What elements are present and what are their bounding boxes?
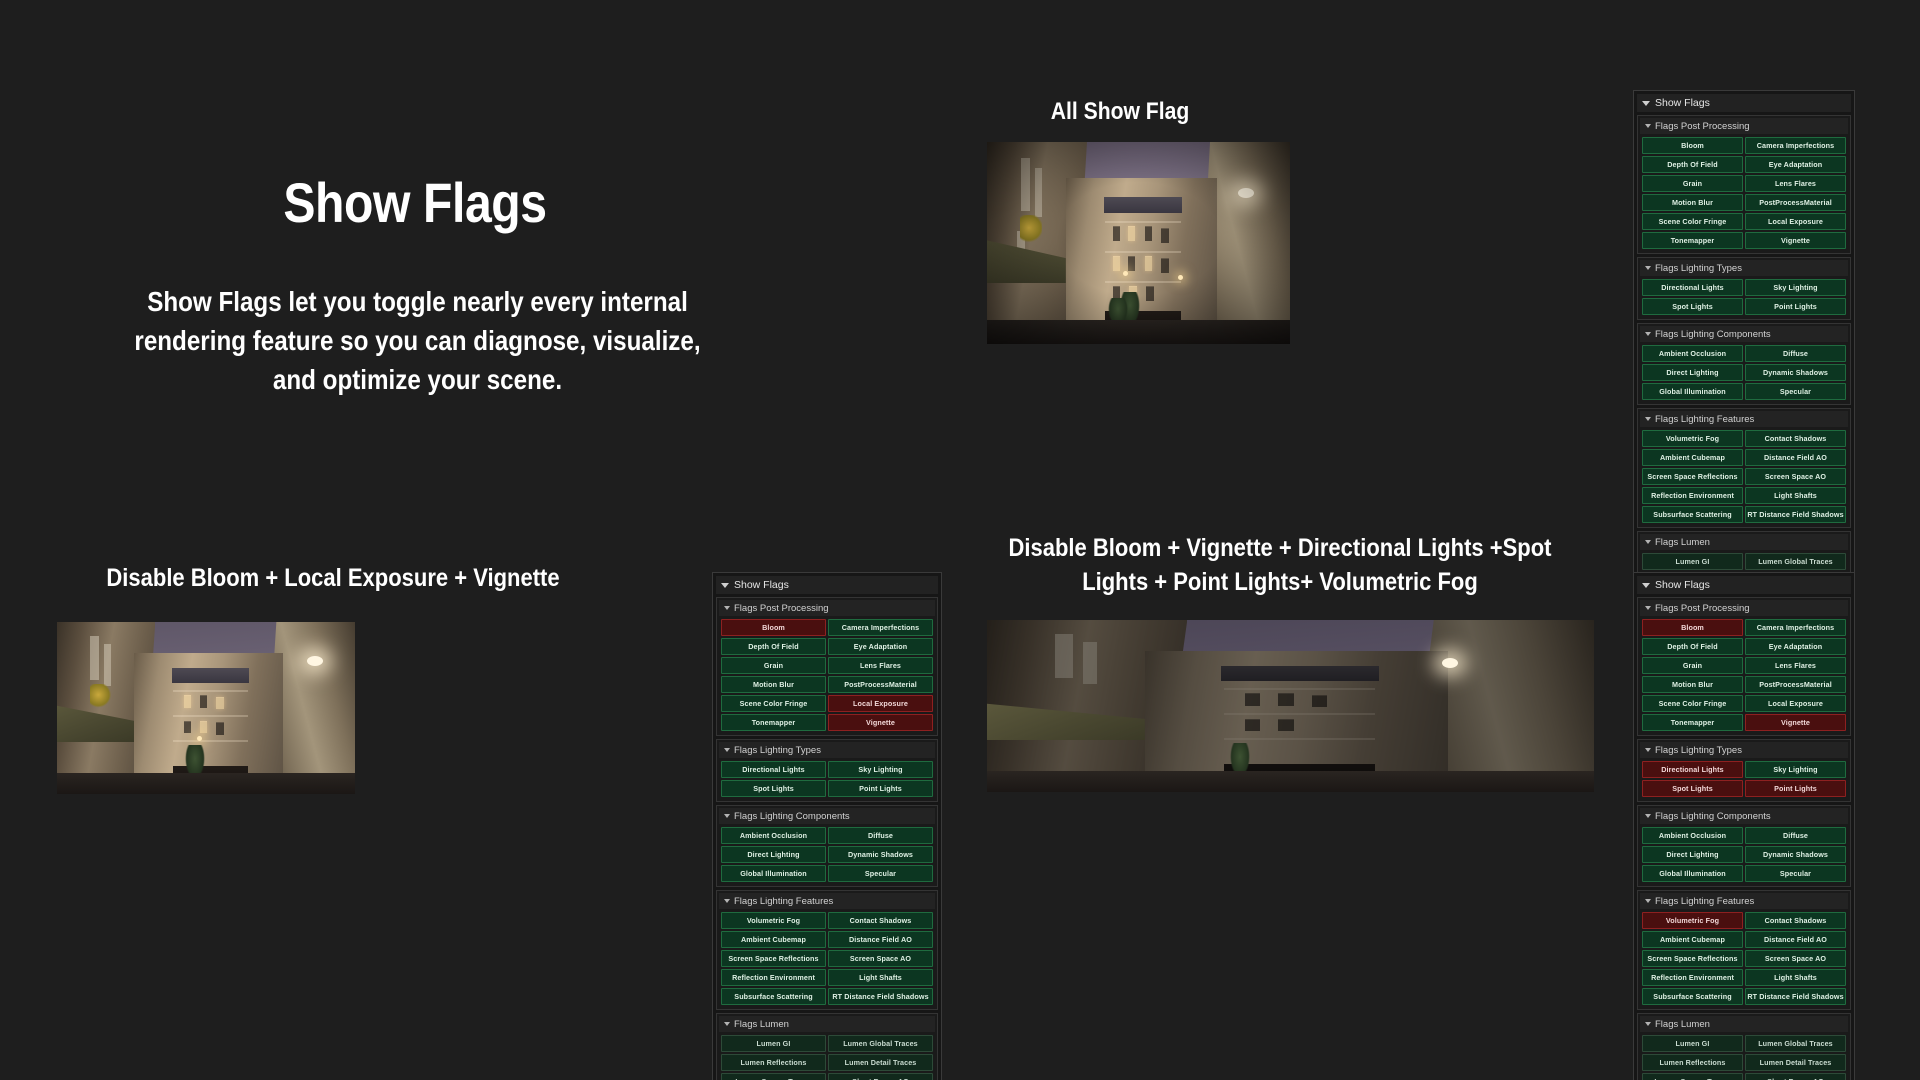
- flag-toggle-tonemapper[interactable]: Tonemapper: [1642, 714, 1743, 731]
- group-post-processing[interactable]: Flags Post Processing BloomCamera Imperf…: [1637, 115, 1851, 254]
- flag-toggle-direct-lighting[interactable]: Direct Lighting: [721, 846, 826, 863]
- flag-toggle-screen-space-reflections[interactable]: Screen Space Reflections: [721, 950, 826, 967]
- balcony-flowers: [90, 684, 111, 712]
- render-viewport-all-show-flag: [987, 142, 1290, 344]
- flag-toggle-lumen-detail-traces[interactable]: Lumen Detail Traces: [1745, 1054, 1846, 1071]
- group-post-processing[interactable]: Flags Post Processing BloomCamera Imperf…: [716, 597, 938, 736]
- chevron-down-icon[interactable]: [721, 583, 729, 588]
- flag-toggle-sky-lighting[interactable]: Sky Lighting: [1745, 761, 1846, 778]
- group-label: Flags Lighting Types: [1655, 745, 1742, 756]
- render-viewport-no-lights-fog: [987, 620, 1594, 792]
- flag-toggle-volumetric-fog[interactable]: Volumetric Fog: [721, 912, 826, 929]
- flag-toggle-lumen-gi[interactable]: Lumen GI: [1642, 1035, 1743, 1052]
- flag-toggle-point-lights[interactable]: Point Lights: [1745, 780, 1846, 797]
- flag-toggle-eye-adaptation[interactable]: Eye Adaptation: [1745, 638, 1846, 655]
- group-lighting-components[interactable]: Flags Lighting Components Ambient Occlus…: [1637, 805, 1851, 887]
- mansard-roof: [1221, 666, 1379, 680]
- flag-toggle-bloom[interactable]: Bloom: [721, 619, 826, 636]
- group-header[interactable]: Flags Lumen: [719, 1016, 935, 1032]
- flag-toggle-dynamic-shadows[interactable]: Dynamic Shadows: [1745, 364, 1846, 381]
- group-header[interactable]: Flags Lighting Components: [719, 808, 935, 824]
- group-header[interactable]: Flags Lumen: [1640, 1016, 1848, 1032]
- flag-toggle-global-illumination[interactable]: Global Illumination: [1642, 383, 1743, 400]
- panel-header[interactable]: Show Flags: [716, 576, 938, 594]
- flag-toggle-vignette[interactable]: Vignette: [1745, 232, 1846, 249]
- flag-toggle-lens-flares[interactable]: Lens Flares: [1745, 175, 1846, 192]
- chevron-down-icon[interactable]: [1645, 748, 1651, 752]
- flag-toggle-lumen-screen-traces[interactable]: Lumen Screen Traces: [1642, 1073, 1743, 1080]
- flag-toggle-sky-lighting[interactable]: Sky Lighting: [1745, 279, 1846, 296]
- flag-toggle-grain[interactable]: Grain: [721, 657, 826, 674]
- chevron-down-icon[interactable]: [1645, 540, 1651, 544]
- group-lumen[interactable]: Flags Lumen Lumen GILumen Global TracesL…: [1637, 1013, 1851, 1080]
- chevron-down-icon[interactable]: [1642, 101, 1650, 106]
- flag-toggle-local-exposure[interactable]: Local Exposure: [1745, 213, 1846, 230]
- flag-toggle-specular[interactable]: Specular: [828, 865, 933, 882]
- panel-title-label: Show Flags: [1655, 97, 1710, 109]
- flag-toggle-lens-flares[interactable]: Lens Flares: [828, 657, 933, 674]
- group-lighting-features[interactable]: Flags Lighting Features Volumetric FogCo…: [1637, 890, 1851, 1010]
- flag-toggle-grain[interactable]: Grain: [1642, 175, 1743, 192]
- render-viewport-no-bloom-local-exposure-vignette: [57, 622, 355, 794]
- flag-toggle-spot-lights[interactable]: Spot Lights: [721, 780, 826, 797]
- flag-toggle-lumen-global-traces[interactable]: Lumen Global Traces: [1745, 1035, 1846, 1052]
- flag-grid: Directional LightsSky LightingSpot Light…: [719, 758, 935, 799]
- flag-toggle-motion-blur[interactable]: Motion Blur: [721, 676, 826, 693]
- group-header[interactable]: Flags Lighting Features: [719, 893, 935, 909]
- flag-toggle-diffuse[interactable]: Diffuse: [1745, 345, 1846, 362]
- flag-toggle-distance-field-ao[interactable]: Distance Field AO: [1745, 449, 1846, 466]
- group-label: Flags Lighting Components: [734, 811, 850, 822]
- flag-toggle-rt-distance-field-shadows[interactable]: RT Distance Field Shadows: [828, 988, 933, 1005]
- group-header[interactable]: Flags Lighting Types: [1640, 260, 1848, 276]
- group-lighting-types[interactable]: Flags Lighting Types Directional LightsS…: [1637, 257, 1851, 320]
- chevron-down-icon[interactable]: [1645, 417, 1651, 421]
- flag-toggle-depth-of-field[interactable]: Depth Of Field: [1642, 638, 1743, 655]
- group-label: Flags Lighting Features: [1655, 414, 1754, 425]
- flag-toggle-camera-imperfections[interactable]: Camera Imperfections: [1745, 137, 1846, 154]
- flag-toggle-depth-of-field[interactable]: Depth Of Field: [721, 638, 826, 655]
- flag-grid: Lumen GILumen Global TracesLumen Reflect…: [1640, 1032, 1848, 1080]
- street-ground: [57, 773, 355, 794]
- flag-grid: Ambient OcclusionDiffuseDirect LightingD…: [1640, 342, 1848, 402]
- flag-toggle-lumen-gi[interactable]: Lumen GI: [1642, 553, 1743, 570]
- flag-toggle-bloom[interactable]: Bloom: [1642, 137, 1743, 154]
- group-lighting-components[interactable]: Flags Lighting Components Ambient Occlus…: [716, 805, 938, 887]
- chevron-down-icon[interactable]: [1645, 814, 1651, 818]
- group-lighting-features[interactable]: Flags Lighting Features Volumetric FogCo…: [716, 890, 938, 1010]
- flag-toggle-subsurface-scattering[interactable]: Subsurface Scattering: [1642, 988, 1743, 1005]
- group-header[interactable]: Flags Lighting Types: [719, 742, 935, 758]
- flag-toggle-dynamic-shadows[interactable]: Dynamic Shadows: [1745, 846, 1846, 863]
- caption-disable-bloom-vignette-lights-fog: Disable Bloom + Vignette + Directional L…: [998, 532, 1561, 600]
- chevron-down-icon[interactable]: [1645, 1022, 1651, 1026]
- flag-toggle-lumen-global-traces[interactable]: Lumen Global Traces: [1745, 553, 1846, 570]
- mansard-roof: [1104, 197, 1183, 214]
- flag-toggle-short-range-ao[interactable]: Short Range AO: [828, 1073, 933, 1080]
- page-title: Show Flags: [161, 170, 668, 235]
- group-label: Flags Lighting Types: [1655, 263, 1742, 274]
- flag-toggle-distance-field-ao[interactable]: Distance Field AO: [828, 931, 933, 948]
- group-header[interactable]: Flags Lighting Components: [1640, 808, 1848, 824]
- group-header[interactable]: Flags Post Processing: [1640, 118, 1848, 134]
- flag-toggle-directional-lights[interactable]: Directional Lights: [721, 761, 826, 778]
- chevron-down-icon[interactable]: [1645, 332, 1651, 336]
- group-label: Flags Lighting Types: [734, 745, 821, 756]
- flag-toggle-lumen-global-traces[interactable]: Lumen Global Traces: [828, 1035, 933, 1052]
- chevron-down-icon[interactable]: [1642, 583, 1650, 588]
- flag-toggle-tonemapper[interactable]: Tonemapper: [721, 714, 826, 731]
- street-ground: [987, 320, 1290, 344]
- flag-grid: Directional LightsSky LightingSpot Light…: [1640, 758, 1848, 799]
- group-post-processing[interactable]: Flags Post Processing BloomCamera Imperf…: [1637, 597, 1851, 736]
- flag-toggle-scene-color-fringe[interactable]: Scene Color Fringe: [1642, 695, 1743, 712]
- flag-toggle-bloom[interactable]: Bloom: [1642, 619, 1743, 636]
- group-label: Flags Lumen: [1655, 537, 1710, 548]
- flag-toggle-spot-lights[interactable]: Spot Lights: [1642, 298, 1743, 315]
- chevron-down-icon[interactable]: [724, 748, 730, 752]
- group-label: Flags Lighting Features: [734, 896, 833, 907]
- group-label: Flags Post Processing: [1655, 603, 1750, 614]
- flag-toggle-contact-shadows[interactable]: Contact Shadows: [828, 912, 933, 929]
- flag-toggle-lumen-reflections[interactable]: Lumen Reflections: [721, 1054, 826, 1071]
- show-flags-panel-no-bloom[interactable]: Show Flags Flags Post Processing BloomCa…: [712, 572, 942, 1080]
- group-label: Flags Lighting Components: [1655, 811, 1771, 822]
- flag-toggle-lumen-detail-traces[interactable]: Lumen Detail Traces: [828, 1054, 933, 1071]
- group-label: Flags Lumen: [1655, 1019, 1710, 1030]
- mansard-roof: [172, 668, 249, 682]
- flag-toggle-ambient-occlusion[interactable]: Ambient Occlusion: [1642, 345, 1743, 362]
- slide-canvas: Show Flags Show Flags let you toggle nea…: [0, 0, 1920, 1080]
- flag-grid: Ambient OcclusionDiffuseDirect LightingD…: [1640, 824, 1848, 884]
- flag-toggle-lumen-gi[interactable]: Lumen GI: [721, 1035, 826, 1052]
- flag-toggle-dynamic-shadows[interactable]: Dynamic Shadows: [828, 846, 933, 863]
- caption-disable-bloom-local-exposure-vignette: Disable Bloom + Local Exposure + Vignett…: [93, 562, 573, 596]
- flag-toggle-scene-color-fringe[interactable]: Scene Color Fringe: [721, 695, 826, 712]
- balcony-flowers: [1020, 215, 1041, 247]
- flag-toggle-direct-lighting[interactable]: Direct Lighting: [1642, 846, 1743, 863]
- flag-toggle-spot-lights[interactable]: Spot Lights: [1642, 780, 1743, 797]
- group-label: Flags Lighting Features: [1655, 896, 1754, 907]
- flag-toggle-subsurface-scattering[interactable]: Subsurface Scattering: [721, 988, 826, 1005]
- flag-toggle-screen-space-ao[interactable]: Screen Space AO: [828, 950, 933, 967]
- flag-toggle-eye-adaptation[interactable]: Eye Adaptation: [828, 638, 933, 655]
- group-label: Flags Post Processing: [734, 603, 829, 614]
- flag-toggle-direct-lighting[interactable]: Direct Lighting: [1642, 364, 1743, 381]
- flag-grid: Volumetric FogContact ShadowsAmbient Cub…: [1640, 427, 1848, 525]
- group-lighting-types[interactable]: Flags Lighting Types Directional LightsS…: [1637, 739, 1851, 802]
- flag-toggle-screen-space-ao[interactable]: Screen Space AO: [1745, 950, 1846, 967]
- page-subtitle: Show Flags let you toggle nearly every i…: [129, 282, 705, 399]
- flag-toggle-postprocessmaterial[interactable]: PostProcessMaterial: [828, 676, 933, 693]
- chevron-down-icon[interactable]: [1645, 266, 1651, 270]
- group-lighting-components[interactable]: Flags Lighting Components Ambient Occlus…: [1637, 323, 1851, 405]
- group-header[interactable]: Flags Lighting Features: [1640, 893, 1848, 909]
- chevron-down-icon[interactable]: [724, 606, 730, 610]
- chevron-down-icon[interactable]: [724, 1022, 730, 1026]
- flag-toggle-sky-lighting[interactable]: Sky Lighting: [828, 761, 933, 778]
- flag-grid: Volumetric FogContact ShadowsAmbient Cub…: [1640, 909, 1848, 1007]
- group-header[interactable]: Flags Lighting Components: [1640, 326, 1848, 342]
- flag-toggle-contact-shadows[interactable]: Contact Shadows: [1745, 912, 1846, 929]
- flag-toggle-lumen-reflections[interactable]: Lumen Reflections: [1642, 1054, 1743, 1071]
- flag-toggle-global-illumination[interactable]: Global Illumination: [721, 865, 826, 882]
- flag-toggle-volumetric-fog[interactable]: Volumetric Fog: [1642, 912, 1743, 929]
- group-header[interactable]: Flags Lighting Features: [1640, 411, 1848, 427]
- flag-toggle-vignette[interactable]: Vignette: [1745, 714, 1846, 731]
- flag-grid: Lumen GILumen Global TracesLumen Reflect…: [719, 1032, 935, 1080]
- group-label: Flags Lumen: [734, 1019, 789, 1030]
- flag-grid: Ambient OcclusionDiffuseDirect LightingD…: [719, 824, 935, 884]
- flag-toggle-global-illumination[interactable]: Global Illumination: [1642, 865, 1743, 882]
- flag-toggle-postprocessmaterial[interactable]: PostProcessMaterial: [1745, 676, 1846, 693]
- flag-toggle-specular[interactable]: Specular: [1745, 865, 1846, 882]
- flag-toggle-rt-distance-field-shadows[interactable]: RT Distance Field Shadows: [1745, 988, 1846, 1005]
- group-label: Flags Lighting Components: [1655, 329, 1771, 340]
- flag-toggle-point-lights[interactable]: Point Lights: [1745, 298, 1846, 315]
- panel-header[interactable]: Show Flags: [1637, 94, 1851, 112]
- flag-toggle-ambient-occlusion[interactable]: Ambient Occlusion: [721, 827, 826, 844]
- flag-toggle-reflection-environment[interactable]: Reflection Environment: [1642, 969, 1743, 986]
- panel-header[interactable]: Show Flags: [1637, 576, 1851, 594]
- panel-title-label: Show Flags: [734, 579, 789, 591]
- flag-toggle-depth-of-field[interactable]: Depth Of Field: [1642, 156, 1743, 173]
- street-ground: [987, 771, 1594, 792]
- flag-toggle-ambient-occlusion[interactable]: Ambient Occlusion: [1642, 827, 1743, 844]
- flag-toggle-reflection-environment[interactable]: Reflection Environment: [1642, 487, 1743, 504]
- flag-toggle-rt-distance-field-shadows[interactable]: RT Distance Field Shadows: [1745, 506, 1846, 523]
- flag-toggle-tonemapper[interactable]: Tonemapper: [1642, 232, 1743, 249]
- group-header[interactable]: Flags Post Processing: [1640, 600, 1848, 616]
- flag-toggle-light-shafts[interactable]: Light Shafts: [1745, 969, 1846, 986]
- flag-toggle-postprocessmaterial[interactable]: PostProcessMaterial: [1745, 194, 1846, 211]
- flag-toggle-screen-space-reflections[interactable]: Screen Space Reflections: [1642, 468, 1743, 485]
- flag-toggle-ambient-cubemap[interactable]: Ambient Cubemap: [1642, 931, 1743, 948]
- flag-toggle-screen-space-ao[interactable]: Screen Space AO: [1745, 468, 1846, 485]
- flag-toggle-reflection-environment[interactable]: Reflection Environment: [721, 969, 826, 986]
- flag-grid: Directional LightsSky LightingSpot Light…: [1640, 276, 1848, 317]
- flag-grid: Volumetric FogContact ShadowsAmbient Cub…: [719, 909, 935, 1007]
- flag-toggle-contact-shadows[interactable]: Contact Shadows: [1745, 430, 1846, 447]
- flag-toggle-diffuse[interactable]: Diffuse: [828, 827, 933, 844]
- flag-toggle-short-range-ao[interactable]: Short Range AO: [1745, 1073, 1846, 1080]
- flag-grid: BloomCamera ImperfectionsDepth Of FieldE…: [1640, 134, 1848, 251]
- flag-toggle-lens-flares[interactable]: Lens Flares: [1745, 657, 1846, 674]
- flag-toggle-distance-field-ao[interactable]: Distance Field AO: [1745, 931, 1846, 948]
- group-lighting-types[interactable]: Flags Lighting Types Directional LightsS…: [716, 739, 938, 802]
- show-flags-panel-all[interactable]: Show Flags Flags Post Processing BloomCa…: [1633, 90, 1855, 617]
- chevron-down-icon[interactable]: [1645, 606, 1651, 610]
- flag-toggle-specular[interactable]: Specular: [1745, 383, 1846, 400]
- flag-toggle-camera-imperfections[interactable]: Camera Imperfections: [1745, 619, 1846, 636]
- flag-toggle-eye-adaptation[interactable]: Eye Adaptation: [1745, 156, 1846, 173]
- group-lighting-features[interactable]: Flags Lighting Features Volumetric FogCo…: [1637, 408, 1851, 528]
- flag-toggle-lumen-screen-traces[interactable]: Lumen Screen Traces: [721, 1073, 826, 1080]
- group-header[interactable]: Flags Lumen: [1640, 534, 1848, 550]
- flag-toggle-directional-lights[interactable]: Directional Lights: [1642, 279, 1743, 296]
- chevron-down-icon[interactable]: [724, 814, 730, 818]
- flag-toggle-volumetric-fog[interactable]: Volumetric Fog: [1642, 430, 1743, 447]
- flag-toggle-directional-lights[interactable]: Directional Lights: [1642, 761, 1743, 778]
- chevron-down-icon[interactable]: [1645, 899, 1651, 903]
- flag-toggle-screen-space-reflections[interactable]: Screen Space Reflections: [1642, 950, 1743, 967]
- flag-grid: BloomCamera ImperfectionsDepth Of FieldE…: [719, 616, 935, 733]
- flag-toggle-point-lights[interactable]: Point Lights: [828, 780, 933, 797]
- flag-toggle-local-exposure[interactable]: Local Exposure: [828, 695, 933, 712]
- flag-toggle-light-shafts[interactable]: Light Shafts: [828, 969, 933, 986]
- group-label: Flags Post Processing: [1655, 121, 1750, 132]
- flag-toggle-camera-imperfections[interactable]: Camera Imperfections: [828, 619, 933, 636]
- flag-toggle-grain[interactable]: Grain: [1642, 657, 1743, 674]
- flag-toggle-diffuse[interactable]: Diffuse: [1745, 827, 1846, 844]
- group-header[interactable]: Flags Post Processing: [719, 600, 935, 616]
- flag-grid: BloomCamera ImperfectionsDepth Of FieldE…: [1640, 616, 1848, 733]
- group-header[interactable]: Flags Lighting Types: [1640, 742, 1848, 758]
- flag-toggle-vignette[interactable]: Vignette: [828, 714, 933, 731]
- flag-toggle-ambient-cubemap[interactable]: Ambient Cubemap: [1642, 449, 1743, 466]
- chevron-down-icon[interactable]: [724, 899, 730, 903]
- flag-toggle-local-exposure[interactable]: Local Exposure: [1745, 695, 1846, 712]
- flag-toggle-scene-color-fringe[interactable]: Scene Color Fringe: [1642, 213, 1743, 230]
- flag-toggle-subsurface-scattering[interactable]: Subsurface Scattering: [1642, 506, 1743, 523]
- caption-all-show-flag: All Show Flag: [1014, 96, 1225, 128]
- flag-toggle-motion-blur[interactable]: Motion Blur: [1642, 194, 1743, 211]
- chevron-down-icon[interactable]: [1645, 124, 1651, 128]
- flag-toggle-ambient-cubemap[interactable]: Ambient Cubemap: [721, 931, 826, 948]
- flag-toggle-light-shafts[interactable]: Light Shafts: [1745, 487, 1846, 504]
- group-lumen[interactable]: Flags Lumen Lumen GILumen Global TracesL…: [716, 1013, 938, 1080]
- flag-toggle-motion-blur[interactable]: Motion Blur: [1642, 676, 1743, 693]
- show-flags-panel-no-lights[interactable]: Show Flags Flags Post Processing BloomCa…: [1633, 572, 1855, 1080]
- panel-title-label: Show Flags: [1655, 579, 1710, 591]
